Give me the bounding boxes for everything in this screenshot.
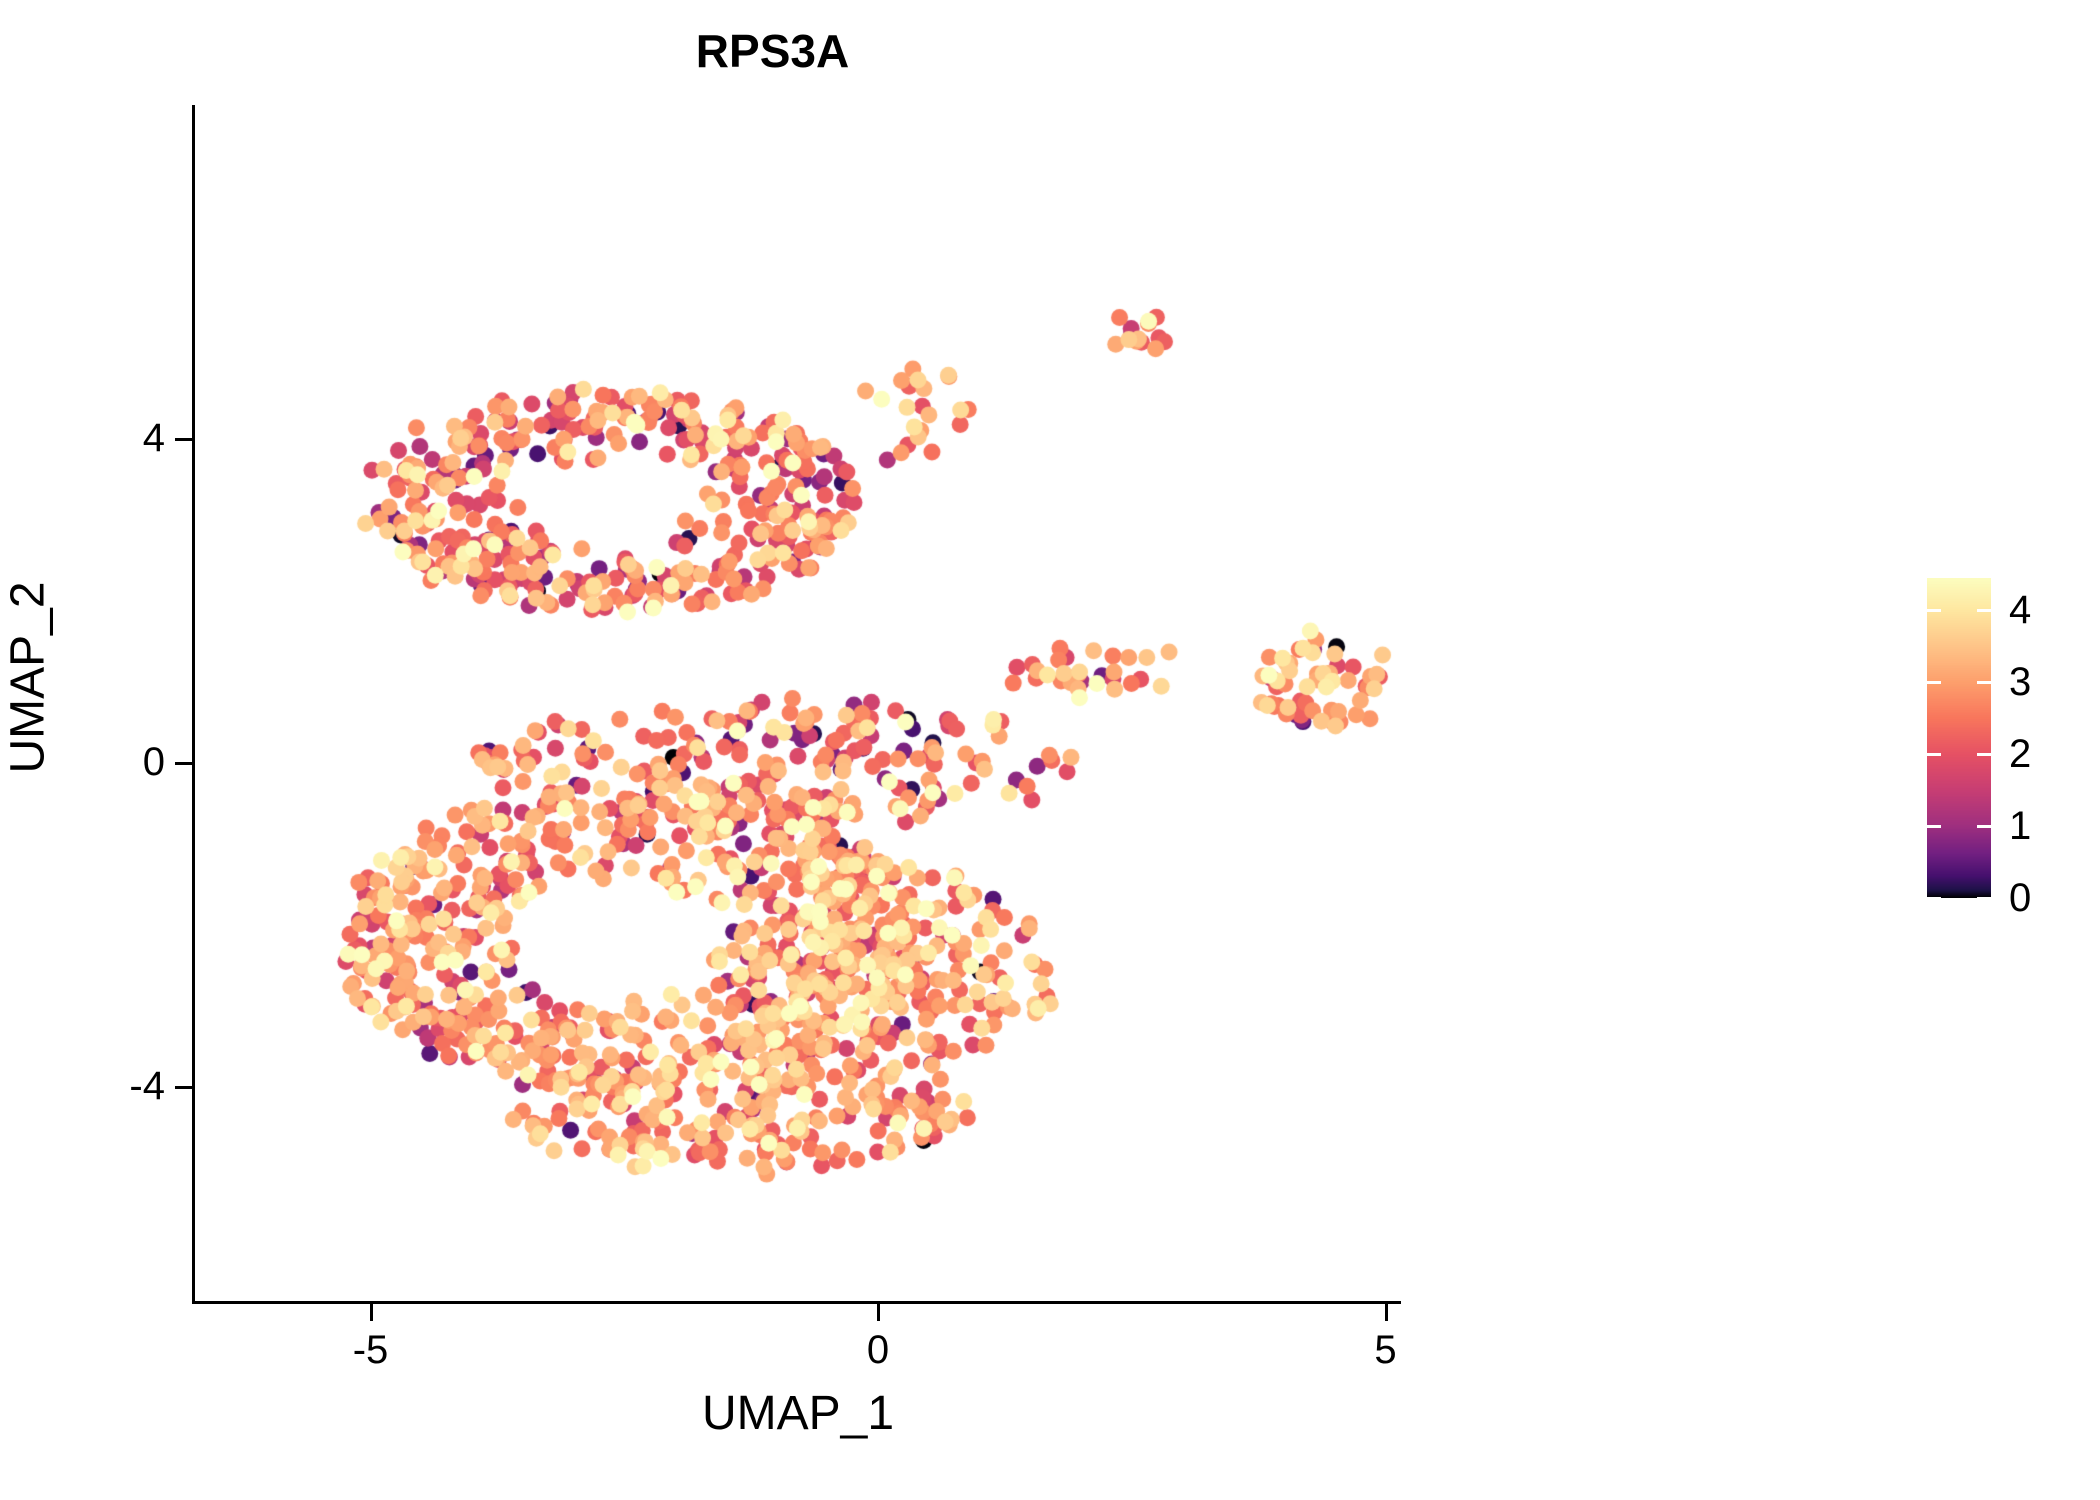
page-title: RPS3A — [0, 28, 1545, 74]
colorbar-tick-label: 4 — [2009, 590, 2031, 630]
x-tick — [1385, 1304, 1388, 1321]
colorbar-tick-label: 2 — [2009, 734, 2031, 774]
x-tick-label: 5 — [1326, 1327, 1446, 1373]
y-tick-label: -4 — [0, 1066, 193, 1106]
x-tick — [370, 1304, 373, 1321]
colorbar-tick — [1927, 753, 1941, 756]
x-tick — [877, 1304, 880, 1321]
x-axis-line — [192, 1301, 1401, 1304]
colorbar-tick-label: 1 — [2009, 806, 2031, 846]
colorbar-tick — [1927, 609, 1941, 612]
y-axis-title: UMAP_2 — [1, 478, 56, 878]
colorbar-gradient — [1927, 578, 1991, 898]
colorbar-tick — [1977, 825, 1991, 828]
colorbar-tick — [1977, 753, 1991, 756]
colorbar-tick — [1927, 681, 1941, 684]
y-axis-line — [192, 105, 195, 1304]
colorbar-tick — [1977, 681, 1991, 684]
y-tick-label: 4 — [0, 418, 193, 458]
colorbar-tick-label: 3 — [2009, 662, 2031, 702]
colorbar-tick-label: 0 — [2009, 878, 2031, 918]
feature-plot-root: RPS3A -505 40-4 UMAP_1 UMAP_2 43210 — [0, 0, 2100, 1500]
colorbar-tick — [1927, 825, 1941, 828]
colorbar-tick — [1977, 897, 1991, 900]
x-axis-title: UMAP_1 — [195, 1386, 1401, 1441]
colorbar-tick — [1977, 609, 1991, 612]
x-tick-label: 0 — [818, 1327, 938, 1373]
scatter-points-canvas — [195, 105, 1401, 1301]
colorbar-tick — [1927, 897, 1941, 900]
plot-panel — [195, 105, 1401, 1301]
colorbar-legend — [1927, 578, 1991, 898]
x-tick-label: -5 — [311, 1327, 431, 1373]
